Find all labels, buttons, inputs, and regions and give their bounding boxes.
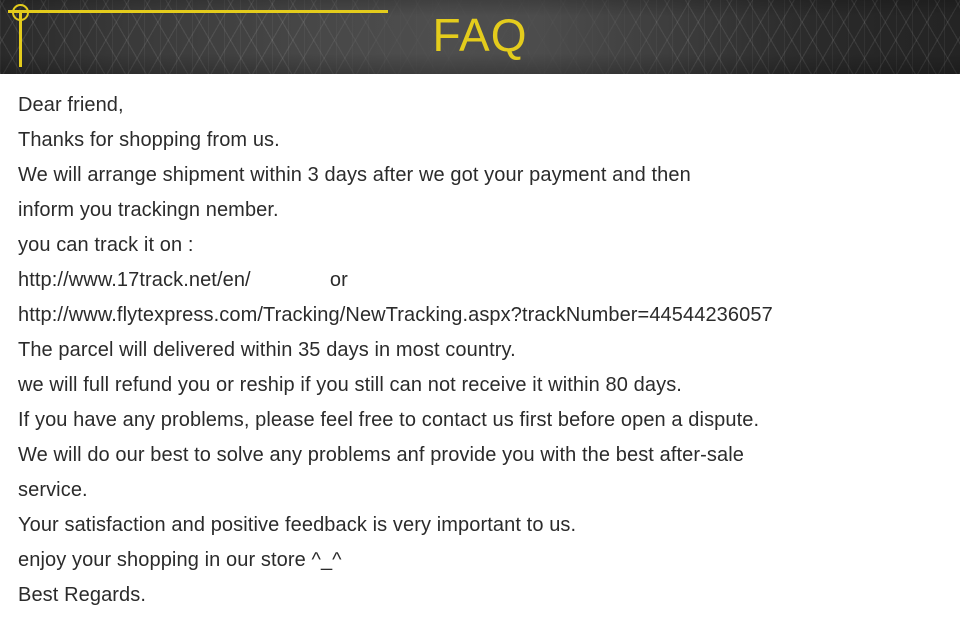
faq-line: Thanks for shopping from us. bbox=[0, 123, 960, 158]
faq-page: FAQ Dear friend, Thanks for shopping fro… bbox=[0, 0, 960, 630]
faq-line-tracking-url-flytexpress: http://www.flytexpress.com/Tracking/NewT… bbox=[0, 298, 960, 333]
faq-line: we will full refund you or reship if you… bbox=[0, 368, 960, 403]
faq-line: Your satisfaction and positive feedback … bbox=[0, 508, 960, 543]
page-title: FAQ bbox=[0, 0, 960, 74]
faq-line: We will do our best to solve any problem… bbox=[0, 438, 960, 473]
faq-line-tracking-url-17track: http://www.17track.net/en/ or bbox=[0, 263, 960, 298]
faq-line: Best Regards. bbox=[0, 578, 960, 613]
faq-line: inform you trackingn nember. bbox=[0, 193, 960, 228]
faq-line: you can track it on : bbox=[0, 228, 960, 263]
faq-content: Dear friend, Thanks for shopping from us… bbox=[0, 74, 960, 613]
faq-banner: FAQ bbox=[0, 0, 960, 74]
faq-line: We will arrange shipment within 3 days a… bbox=[0, 158, 960, 193]
faq-line: Dear friend, bbox=[0, 88, 960, 123]
faq-line: service. bbox=[0, 473, 960, 508]
faq-line: enjoy your shopping in our store ^_^ bbox=[0, 543, 960, 578]
faq-line: The parcel will delivered within 35 days… bbox=[0, 333, 960, 368]
faq-line: If you have any problems, please feel fr… bbox=[0, 403, 960, 438]
